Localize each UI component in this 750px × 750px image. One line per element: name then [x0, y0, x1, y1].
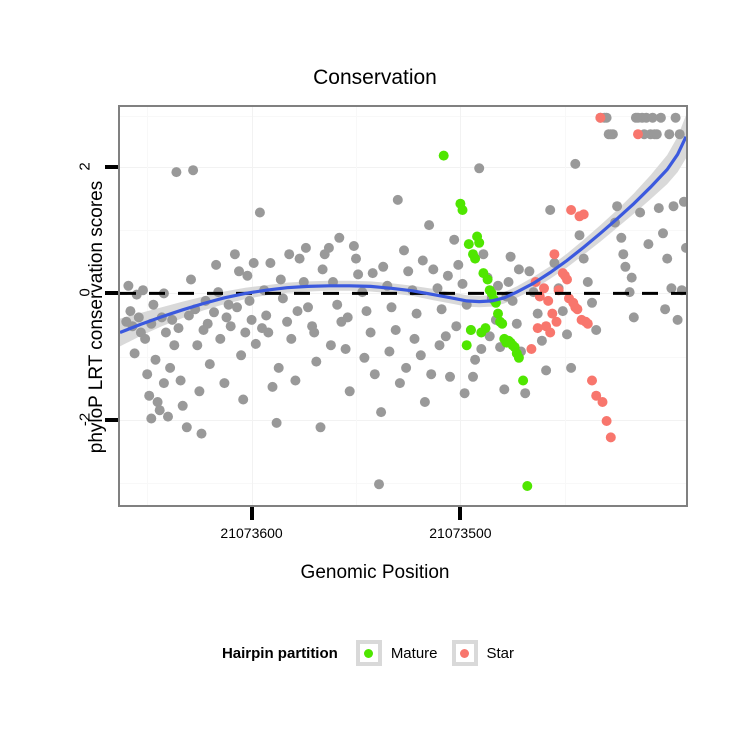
y-tick-label: 2 — [77, 147, 94, 187]
data-point — [268, 382, 278, 392]
data-point — [558, 306, 568, 316]
data-point — [514, 353, 524, 363]
data-point — [403, 266, 413, 276]
data-point — [326, 340, 336, 350]
data-point — [629, 312, 639, 322]
data-point — [341, 344, 351, 354]
data-point — [533, 309, 543, 319]
data-point — [627, 273, 637, 283]
data-point — [349, 241, 359, 251]
data-point — [303, 302, 313, 312]
data-point — [591, 325, 601, 335]
data-point — [334, 233, 344, 243]
data-point — [324, 243, 334, 253]
legend-key-star — [452, 640, 478, 666]
data-point — [458, 279, 468, 289]
data-point — [391, 325, 401, 335]
data-point — [460, 388, 470, 398]
data-point — [566, 205, 576, 215]
data-point — [378, 262, 388, 272]
data-point — [362, 306, 372, 316]
data-point — [186, 275, 196, 285]
data-point — [449, 235, 459, 245]
data-point — [257, 323, 267, 333]
data-point — [579, 209, 589, 219]
data-point — [433, 283, 443, 293]
data-point — [545, 205, 555, 215]
data-point — [504, 277, 514, 287]
data-point — [410, 334, 420, 344]
data-point — [192, 340, 202, 350]
data-point — [566, 363, 576, 373]
data-point — [353, 269, 363, 279]
data-point — [211, 260, 221, 270]
y-tick-mark — [105, 291, 118, 295]
x-tick-label: 21073600 — [192, 525, 312, 541]
data-point — [159, 378, 169, 388]
legend-label-mature: Mature — [391, 645, 438, 662]
data-point — [673, 315, 683, 325]
data-point — [261, 311, 271, 321]
data-point — [671, 113, 681, 123]
data-point — [462, 340, 472, 350]
data-point — [620, 262, 630, 272]
data-point — [618, 249, 628, 259]
data-point — [497, 319, 507, 329]
data-point — [483, 275, 493, 285]
data-point — [125, 306, 135, 316]
data-point — [167, 315, 177, 325]
data-point — [188, 165, 198, 175]
data-point — [468, 372, 478, 382]
data-point — [575, 230, 585, 240]
data-point — [370, 369, 380, 379]
data-point — [522, 481, 532, 491]
data-point — [662, 254, 672, 264]
data-point — [612, 201, 622, 211]
data-point — [458, 205, 468, 215]
data-point — [144, 391, 154, 401]
data-point — [537, 336, 547, 346]
data-point — [247, 315, 257, 325]
data-point — [146, 414, 156, 424]
data-point — [660, 304, 670, 314]
data-point — [418, 256, 428, 266]
plot-canvas — [120, 107, 686, 505]
data-point — [295, 254, 305, 264]
data-point — [466, 325, 476, 335]
data-point — [274, 363, 284, 373]
data-point — [134, 312, 144, 322]
data-point — [130, 348, 140, 358]
x-tick-mark — [250, 507, 254, 520]
data-point — [290, 376, 300, 386]
data-point — [472, 232, 482, 242]
data-point — [123, 281, 133, 291]
legend-key-mature — [356, 640, 382, 666]
data-point — [428, 264, 438, 274]
data-point — [393, 195, 403, 205]
data-point — [318, 264, 328, 274]
data-point — [169, 340, 179, 350]
data-point — [439, 151, 449, 161]
data-point — [435, 340, 445, 350]
data-point — [616, 233, 626, 243]
data-point — [138, 285, 148, 295]
y-tick-label: -2 — [77, 399, 94, 439]
data-point — [526, 344, 536, 354]
data-point — [470, 254, 480, 264]
data-point — [376, 407, 386, 417]
data-point — [176, 376, 186, 386]
data-point — [606, 129, 616, 139]
legend-item-mature[interactable]: Mature — [356, 640, 438, 666]
data-point — [245, 296, 255, 306]
chart-title: Conservation — [0, 66, 750, 90]
plot-panel — [118, 105, 688, 507]
data-point — [251, 339, 261, 349]
data-point — [549, 249, 559, 259]
data-point — [171, 167, 181, 177]
data-point — [311, 357, 321, 367]
data-point — [148, 300, 158, 310]
data-point — [681, 243, 686, 253]
data-point — [293, 306, 303, 316]
data-point — [197, 429, 207, 439]
legend-dot-star — [460, 649, 469, 658]
data-point — [332, 300, 342, 310]
data-point — [343, 312, 353, 322]
y-tick-mark — [105, 418, 118, 422]
data-point — [476, 328, 486, 338]
data-point — [286, 334, 296, 344]
data-point — [359, 353, 369, 363]
data-point — [583, 319, 593, 329]
data-point — [282, 317, 292, 327]
data-point — [395, 378, 405, 388]
data-point — [606, 432, 616, 442]
data-point — [464, 239, 474, 249]
data-point — [518, 376, 528, 386]
data-point — [512, 319, 522, 329]
data-point — [426, 369, 436, 379]
data-point — [205, 359, 215, 369]
data-point — [249, 258, 259, 268]
series-other — [121, 113, 686, 490]
data-point — [541, 365, 551, 375]
data-point — [222, 312, 232, 322]
x-axis-title: Genomic Position — [0, 562, 750, 584]
data-point — [476, 344, 486, 354]
data-point — [301, 243, 311, 253]
y-tick-mark — [105, 165, 118, 169]
data-point — [499, 384, 509, 394]
data-point — [174, 323, 184, 333]
data-point — [140, 334, 150, 344]
data-point — [443, 271, 453, 281]
data-point — [151, 355, 161, 365]
data-point — [215, 334, 225, 344]
data-point — [232, 302, 242, 312]
data-point — [163, 412, 173, 422]
x-tick-label: 21073500 — [400, 525, 520, 541]
data-point — [420, 397, 430, 407]
data-point — [635, 208, 645, 218]
legend-item-star[interactable]: Star — [452, 640, 515, 666]
data-point — [161, 328, 171, 338]
data-point — [562, 275, 572, 285]
data-point — [654, 203, 664, 213]
data-point — [368, 268, 378, 278]
data-point — [316, 422, 326, 432]
data-point — [562, 329, 572, 339]
data-point — [351, 254, 361, 264]
data-point — [658, 228, 668, 238]
data-point — [226, 321, 236, 331]
data-point — [219, 378, 229, 388]
legend-title: Hairpin partition — [222, 645, 338, 662]
data-point — [602, 416, 612, 426]
data-point — [236, 350, 246, 360]
data-point — [345, 386, 355, 396]
data-point — [255, 208, 265, 218]
data-point — [506, 252, 516, 262]
data-point — [374, 479, 384, 489]
data-point — [240, 328, 250, 338]
data-point — [664, 129, 674, 139]
data-point — [514, 264, 524, 274]
data-point — [284, 249, 294, 259]
data-point — [412, 309, 422, 319]
data-point — [595, 113, 605, 123]
data-point — [679, 197, 686, 207]
data-point — [524, 266, 534, 276]
data-point — [652, 129, 662, 139]
data-point — [583, 277, 593, 287]
data-point — [572, 304, 582, 314]
x-tick-mark — [458, 507, 462, 520]
data-point — [178, 401, 188, 411]
data-point — [121, 317, 131, 327]
data-point — [579, 254, 589, 264]
legend-dot-mature — [364, 649, 373, 658]
data-point — [570, 159, 580, 169]
data-point — [598, 397, 608, 407]
data-point — [474, 163, 484, 173]
data-point — [399, 245, 409, 255]
data-point — [238, 395, 248, 405]
data-point — [631, 113, 641, 123]
conservation-chart-figure: Conservation phyloP LRT conservation sco… — [0, 0, 750, 750]
data-point — [453, 260, 463, 270]
data-point — [445, 372, 455, 382]
data-point — [366, 328, 376, 338]
data-point — [182, 422, 192, 432]
data-point — [416, 350, 426, 360]
data-point — [533, 323, 543, 333]
data-point — [401, 363, 411, 373]
data-point — [675, 129, 685, 139]
legend: Hairpin partition Mature Star — [0, 640, 750, 666]
legend-label-star: Star — [487, 645, 515, 662]
data-point — [643, 239, 653, 249]
data-point — [648, 113, 658, 123]
data-point — [451, 321, 461, 331]
data-point — [587, 376, 597, 386]
data-point — [545, 328, 555, 338]
data-point — [437, 304, 447, 314]
data-point — [309, 328, 319, 338]
loess-smooth-line — [120, 137, 686, 333]
data-point — [142, 369, 152, 379]
data-point — [272, 418, 282, 428]
data-point — [387, 302, 397, 312]
data-point — [230, 249, 240, 259]
data-point — [666, 283, 676, 293]
data-point — [265, 258, 275, 268]
data-point — [520, 388, 530, 398]
data-point — [470, 355, 480, 365]
data-point — [199, 325, 209, 335]
data-point — [194, 386, 204, 396]
y-tick-label: 0 — [77, 273, 94, 313]
data-point — [424, 220, 434, 230]
data-point — [552, 317, 562, 327]
data-point — [633, 129, 643, 139]
data-point — [155, 405, 165, 415]
data-point — [669, 201, 679, 211]
data-point — [384, 347, 394, 357]
data-point — [165, 363, 175, 373]
data-point — [587, 298, 597, 308]
data-point — [441, 331, 451, 341]
data-point — [234, 266, 244, 276]
data-point — [276, 275, 286, 285]
data-point — [209, 307, 219, 317]
